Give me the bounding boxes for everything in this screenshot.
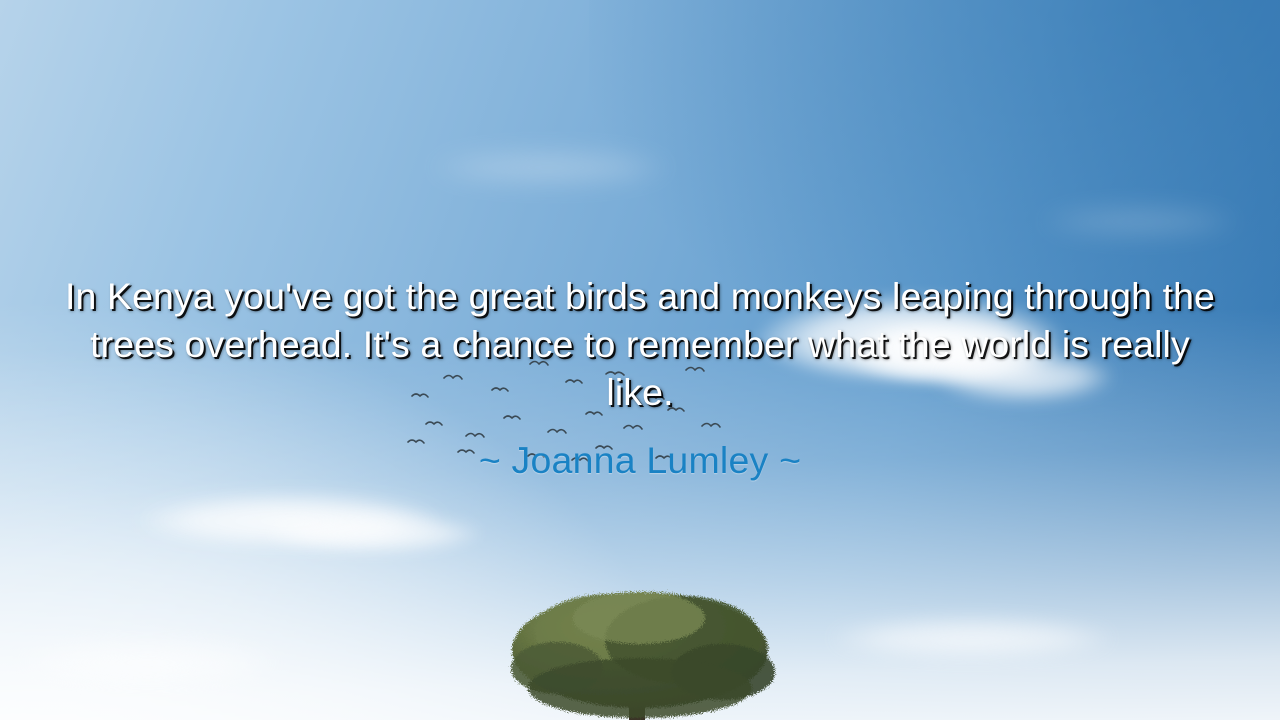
quote-author: ~ Joanna Lumley ~ bbox=[40, 438, 1240, 482]
quote-text: In Kenya you've got the great birds and … bbox=[64, 272, 1216, 416]
quote-text-block: In Kenya you've got the great birds and … bbox=[0, 272, 1280, 482]
quote-image-card: In Kenya you've got the great birds and … bbox=[0, 0, 1280, 720]
